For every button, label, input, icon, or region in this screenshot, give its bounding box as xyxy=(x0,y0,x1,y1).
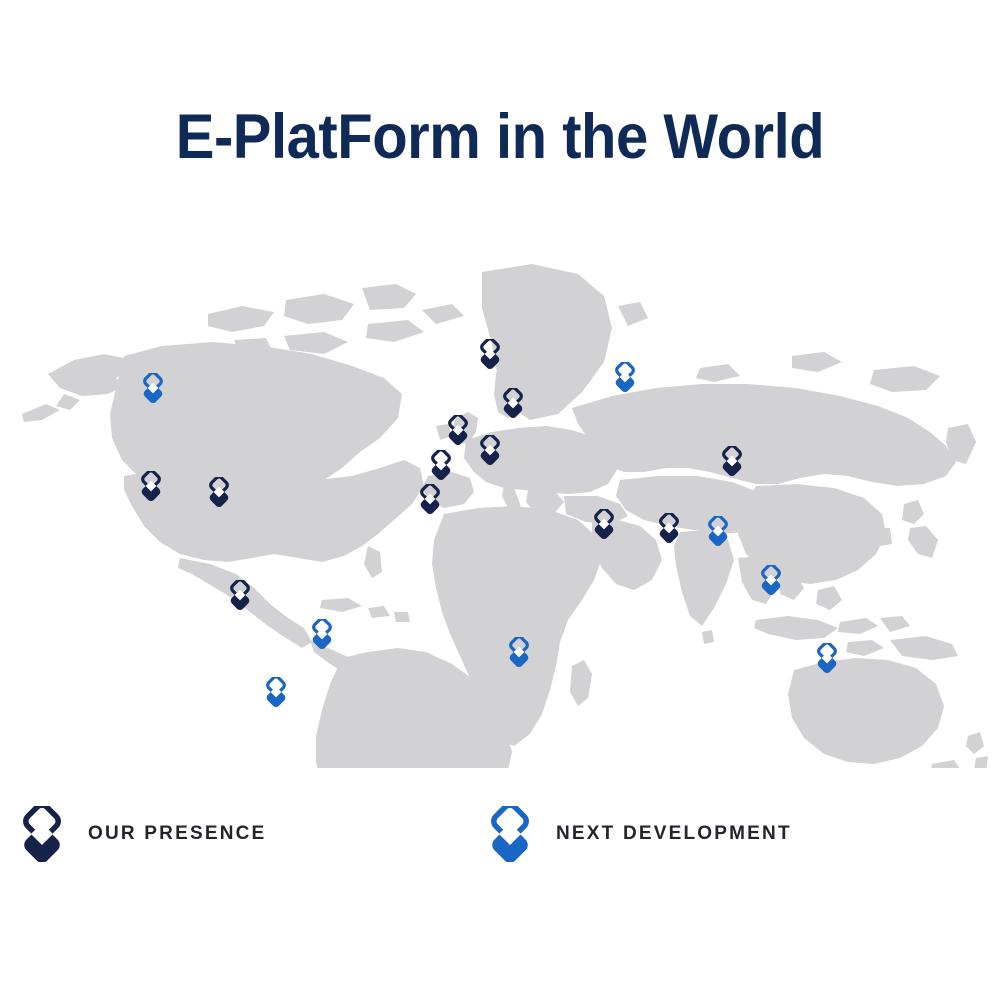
marker-indonesia[interactable] xyxy=(756,565,786,595)
legend-label-next-development: NEXT DEVELOPMENT xyxy=(556,823,792,845)
infographic-page: E-PlatForm in the World xyxy=(0,0,1000,1000)
marker-central-europe[interactable] xyxy=(475,435,505,465)
legend-item-our-presence[interactable]: OUR PRESENCE xyxy=(14,806,266,862)
marker-scandinavia[interactable] xyxy=(475,339,505,369)
overlapping-diamonds-icon xyxy=(482,806,538,862)
marker-uk[interactable] xyxy=(443,415,473,445)
marker-usa-west[interactable] xyxy=(136,471,166,501)
marker-canada-west[interactable] xyxy=(138,373,168,403)
marker-south-cone[interactable] xyxy=(261,677,291,707)
marker-india[interactable] xyxy=(654,513,684,543)
marker-north-africa[interactable] xyxy=(415,484,445,514)
marker-middle-east[interactable] xyxy=(589,509,619,539)
legend-label-our-presence: OUR PRESENCE xyxy=(88,823,266,845)
page-title: E-PlatForm in the World xyxy=(40,104,960,170)
marker-iberia[interactable] xyxy=(426,450,456,480)
marker-brazil[interactable] xyxy=(307,619,337,649)
marker-usa-east[interactable] xyxy=(204,477,234,507)
overlapping-diamonds-icon xyxy=(14,806,70,862)
marker-baltic[interactable] xyxy=(498,388,528,418)
legend-item-next-development[interactable]: NEXT DEVELOPMENT xyxy=(482,806,792,862)
marker-southern-africa[interactable] xyxy=(504,637,534,667)
marker-south-america-n[interactable] xyxy=(225,580,255,610)
marker-australia[interactable] xyxy=(812,643,842,673)
marker-russia[interactable] xyxy=(610,362,640,392)
legend: OUR PRESENCE NEXT DEVELOPMENT xyxy=(0,800,1000,880)
marker-china[interactable] xyxy=(717,446,747,476)
marker-indochina[interactable] xyxy=(703,516,733,546)
world-map xyxy=(12,228,988,768)
